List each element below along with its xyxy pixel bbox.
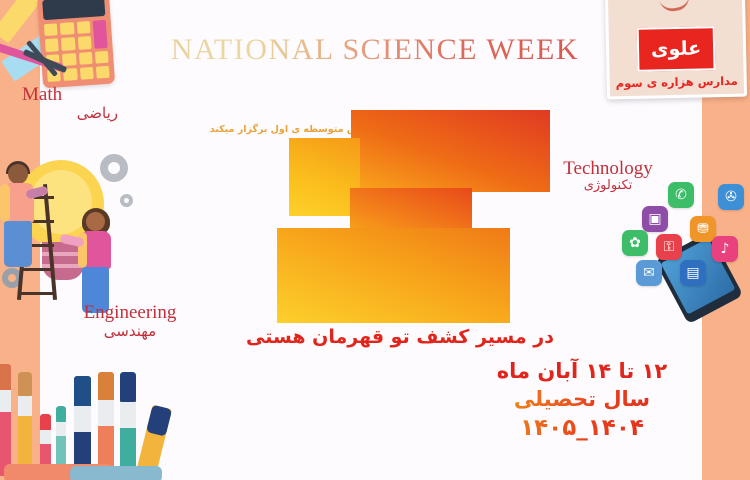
- gear-icon: [100, 154, 128, 182]
- event-date-range: ۱۲ تا ۱۴ آبان ماه: [472, 358, 692, 386]
- subject-label-technology: Technology تکنولوژی: [528, 158, 688, 194]
- paintbrush-icon: [0, 364, 11, 476]
- swoosh-icon: [659, 0, 691, 13]
- paintbrush-icon: [18, 372, 32, 476]
- title-word-hafteh: هفته: [351, 110, 550, 192]
- subject-label-math: Math ریاضی: [22, 84, 142, 122]
- paintbrush-icon: [98, 372, 114, 476]
- paintbrush-illustration: [0, 351, 184, 480]
- page-title-english: NATIONAL SCIENCE WEEK: [0, 33, 750, 67]
- academic-year-label: سال تحصیلی: [472, 386, 692, 414]
- person-figure-left: [0, 164, 40, 274]
- subject-technology-fa: تکنولوژی: [528, 179, 688, 194]
- subject-math-en: Math: [22, 84, 142, 105]
- calculator-screen: [42, 0, 105, 20]
- poster-canvas: علوی مدارس هزاره ی سوم ✆✇▣✿⛃⚿♪✉▤ NATIONA…: [0, 0, 750, 480]
- engineering-illustration: [0, 150, 144, 325]
- camera-icon: ▣: [642, 206, 668, 232]
- paintbrush-icon: [74, 376, 91, 476]
- gear-icon: ✿: [622, 230, 648, 256]
- envelope-icon: ✉: [636, 260, 662, 286]
- academic-year-value: ۱۴۰۴_۱۴۰۵: [472, 413, 692, 443]
- cart-icon: ⛃: [690, 216, 716, 242]
- event-dates: ۱۲ تا ۱۴ آبان ماه سال تحصیلی ۱۴۰۴_۱۴۰۵: [472, 358, 692, 444]
- subject-technology-en: Technology: [528, 158, 688, 179]
- brush-holder-secondary: [70, 466, 162, 480]
- title-word-oloum: علوم: [277, 228, 510, 323]
- page-title-persian: هفته ی ملی علوم: [230, 110, 550, 335]
- globe-icon: ✇: [718, 184, 744, 210]
- gear-icon: [120, 194, 133, 207]
- lock-icon: ⚿: [656, 234, 682, 260]
- subject-math-fa: ریاضی: [22, 105, 142, 122]
- subject-engineering-fa: مهندسی: [40, 323, 220, 340]
- subject-label-engineering: Engineering مهندسی: [40, 302, 220, 340]
- book-icon: ▤: [680, 260, 706, 286]
- person-figure-right: [74, 212, 118, 316]
- paintbrush-icon: [120, 372, 136, 476]
- poster-tagline: در مسیر کشف تو قهرمان هستی: [240, 326, 560, 348]
- music-icon: ♪: [712, 236, 738, 262]
- logo-subtitle: مدارس هزاره ی سوم: [616, 74, 738, 91]
- subject-engineering-en: Engineering: [40, 302, 220, 323]
